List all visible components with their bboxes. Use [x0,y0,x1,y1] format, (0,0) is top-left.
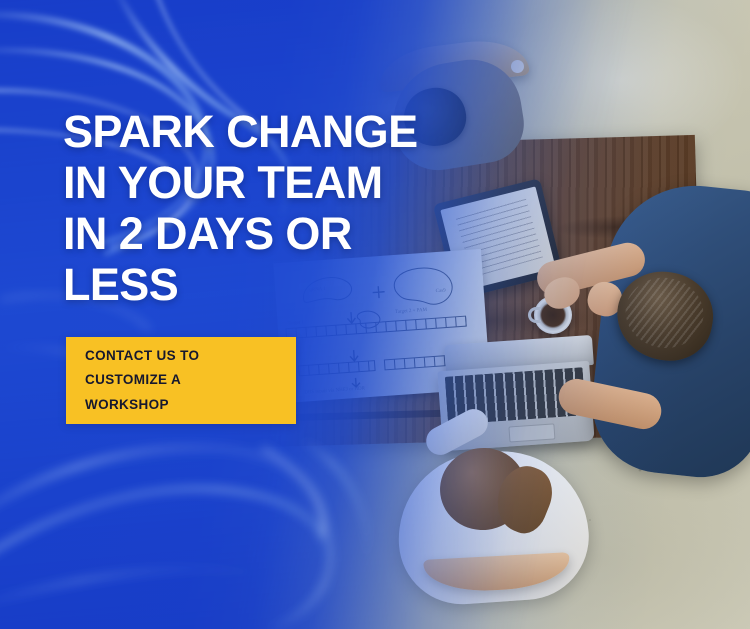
cta-contact-button-label: CONTACT US TO CUSTOMIZE A WORKSHOP [66,344,199,418]
marketing-banner: gRNA 1 Cas9 Target 2 + PAM Target 1 DBS … [0,0,750,629]
cta-contact-button[interactable]: CONTACT US TO CUSTOMIZE A WORKSHOP [66,337,296,424]
page-title: SPARK CHANGE IN YOUR TEAM IN 2 DAYS OR L… [63,106,483,310]
blue-gradient-overlay-secondary [0,0,750,629]
